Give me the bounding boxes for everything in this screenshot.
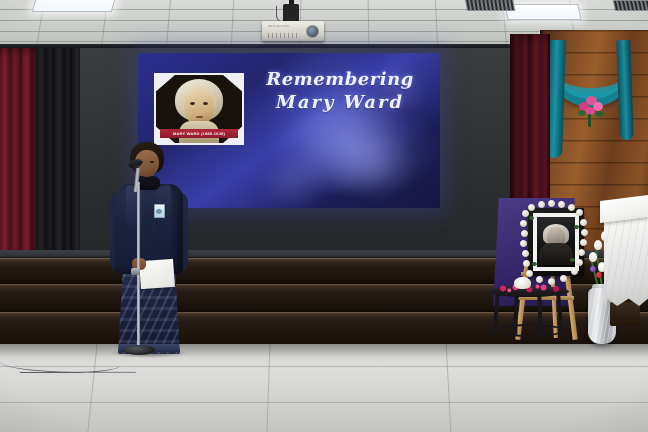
purple-flower: [590, 266, 596, 272]
teal-swag-drape-inner: [556, 46, 626, 99]
ceiling-projector: PROJECTOR: [262, 21, 324, 41]
auditorium-scene: PROJECTOR: [0, 0, 648, 432]
slide-title: Remembering Mary Ward: [250, 69, 430, 115]
microphone-height-collar: [131, 268, 140, 275]
face-front: [184, 89, 214, 125]
white-draped-table: [600, 198, 648, 328]
ceiling-vent-right-icon: [613, 0, 648, 11]
speaker-person: [104, 142, 196, 360]
white-candle: [514, 277, 531, 289]
microphone-stand-pole: [137, 182, 140, 350]
left-black-curtain: [36, 48, 80, 252]
side-table-legs: [492, 294, 564, 338]
panel-light-right: [504, 4, 581, 20]
slide-caption-banner: MARY WARD (1585-1645): [160, 129, 238, 138]
table-cloth: [604, 214, 648, 306]
audio-cable-secondary: [20, 358, 120, 373]
projector-label: PROJECTOR: [268, 24, 289, 28]
slide-portrait-card: MARY WARD (1585-1645): [154, 73, 244, 145]
side-table-ring: [496, 324, 564, 337]
slide-title-line2: Mary Ward: [250, 91, 430, 115]
panel-light-left: [32, 0, 117, 12]
gladiolus-flower: [589, 252, 597, 262]
id-badge-icon: [154, 204, 165, 218]
projector-vent-icon: [268, 33, 298, 38]
flower-garland: [518, 200, 596, 286]
projector-lens-icon: [306, 25, 319, 38]
pink-wall-flower: [578, 96, 604, 128]
slide-title-line1: Remembering: [250, 69, 430, 91]
ceiling-vent-icon: [465, 0, 515, 11]
table-leg: [610, 302, 640, 326]
